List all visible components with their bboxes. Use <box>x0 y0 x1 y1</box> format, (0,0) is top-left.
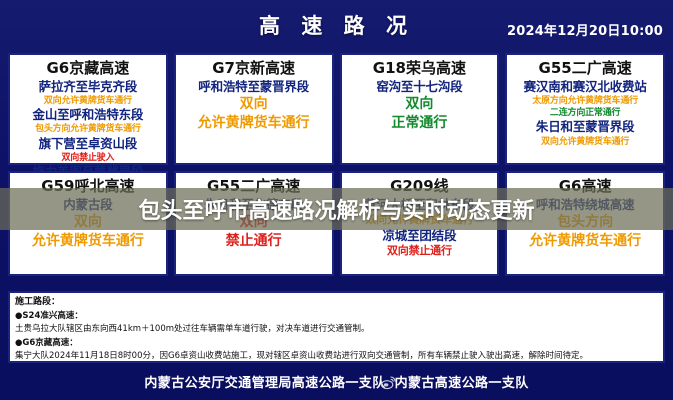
segment-status-secondary: 允许黄牌货车通行 <box>510 232 660 251</box>
segment-status-secondary: 允许黄牌货车通行 <box>179 114 329 133</box>
segment-name: 朱日和至蒙晋界段 <box>510 119 660 135</box>
segment-name: 萨拉齐至毕克齐段 <box>13 79 163 95</box>
highway-card-title: G18荣乌高速 <box>345 59 495 78</box>
segment-status: 双向允许黄牌货车通行 <box>510 136 660 148</box>
segment-name: 旗下营至卓资山段 <box>13 136 163 152</box>
highway-card[interactable]: G7京新高速呼和浩特至蒙晋界段双向允许黄牌货车通行 <box>174 53 334 165</box>
segment-status: 双向禁止驶入 <box>13 152 163 164</box>
highway-card[interactable]: G18荣乌高速窑沟至十七沟段双向正常通行 <box>340 53 500 165</box>
highway-segment: 凉城至团结段双向禁止通行 <box>345 228 495 259</box>
highway-card-title: G7京新高速 <box>179 59 329 78</box>
footer-account-label: 内蒙古高速公路一支队 <box>395 372 529 391</box>
segment-status-secondary: 允许黄牌货车通行 <box>13 232 163 251</box>
segment-status: 包头方向允许黄牌货车通行 <box>13 123 163 135</box>
segment-status-secondary: 禁止通行 <box>179 232 329 251</box>
segment-status-secondary: 二连方向正常通行 <box>510 107 660 119</box>
note-body: 集宁大队2024年11月18日8时00分，因G6卓资山收费站施工，现对辖区卓资山… <box>15 350 658 363</box>
footer-divider <box>0 396 673 400</box>
segment-name: 赛汉南和赛汉北收费站 <box>510 79 660 95</box>
highway-card[interactable]: G55二广高速赛汉南和赛汉北收费站太原方向允许黄牌货车通行二连方向正常通行朱日和… <box>505 53 665 165</box>
timestamp: 2024年12月20日10:00 <box>507 20 663 39</box>
highway-segment: 赛汉南和赛汉北收费站太原方向允许黄牌货车通行二连方向正常通行 <box>510 79 660 120</box>
weibo-icon <box>380 374 397 391</box>
notes-title: 施工路段： <box>15 296 658 310</box>
footer-agency-label: 内蒙古公安厅交通管理局高速公路一支队 <box>144 372 385 391</box>
segment-status: 双向 <box>345 95 495 114</box>
highway-card-grid: G6京藏高速萨拉齐至毕克齐段双向允许黄牌货车通行金山至呼和浩特东段包头方向允许黄… <box>0 53 673 282</box>
segment-name: 凉城至团结段 <box>345 228 495 244</box>
highway-segment: 旗下营至卓资山段双向禁止驶入 <box>13 136 163 164</box>
segment-status-secondary: 正常通行 <box>345 114 495 133</box>
board-header: 高 速 路 况 2024年12月20日10:00 <box>0 0 673 53</box>
segment-status: 双向禁止通行 <box>345 244 495 259</box>
board-footer: 内蒙古公安厅交通管理局高速公路一支队 内蒙古高速公路一支队 <box>0 366 673 396</box>
overlay-banner: 包头至呼市高速路况解析与实时动态更新 <box>0 188 673 230</box>
highway-card-title: G55二广高速 <box>510 59 660 78</box>
segment-name: 呼和浩特至蒙晋界段 <box>179 79 329 95</box>
highway-segment: 窑沟至十七沟段双向正常通行 <box>345 79 495 133</box>
note-heading: ●G6京藏高速： <box>15 337 658 350</box>
segment-status: 双向 <box>179 95 329 114</box>
highway-segment: 萨拉齐至毕克齐段双向允许黄牌货车通行 <box>13 79 163 107</box>
note-body: 土贵乌拉大队辖区由东向西41km＋100m处过往车辆需单车道行驶，对决车道进行交… <box>15 323 658 337</box>
construction-notes-panel: 施工路段： ●S24准兴高速：土贵乌拉大队辖区由东向西41km＋100m处过往车… <box>8 291 665 363</box>
segment-name: 金山至呼和浩特东段 <box>13 107 163 123</box>
segment-status: 太原方向允许黄牌货车通行 <box>510 95 660 107</box>
card-row-1: G6京藏高速萨拉齐至毕克齐段双向允许黄牌货车通行金山至呼和浩特东段包头方向允许黄… <box>0 53 673 171</box>
highway-card-title: G6京藏高速 <box>13 59 163 78</box>
segment-name: 窑沟至十七沟段 <box>345 79 495 95</box>
highway-segment: 朱日和至蒙晋界段双向允许黄牌货车通行 <box>510 119 660 147</box>
overlay-headline: 包头至呼市高速路况解析与实时动态更新 <box>138 193 534 225</box>
segment-status: 双向允许黄牌货车通行 <box>13 95 163 107</box>
highway-segment: 呼和浩特至蒙晋界段双向允许黄牌货车通行 <box>179 79 329 133</box>
highway-segment: 金山至呼和浩特东段包头方向允许黄牌货车通行 <box>13 107 163 135</box>
traffic-status-board: 高 速 路 况 2024年12月20日10:00 G6京藏高速萨拉齐至毕克齐段双… <box>0 0 673 400</box>
note-heading: ●S24准兴高速： <box>15 310 658 323</box>
highway-card[interactable]: G6京藏高速萨拉齐至毕克齐段双向允许黄牌货车通行金山至呼和浩特东段包头方向允许黄… <box>8 53 168 165</box>
notes-list: ●S24准兴高速：土贵乌拉大队辖区由东向西41km＋100m处过往车辆需单车道行… <box>15 310 658 363</box>
